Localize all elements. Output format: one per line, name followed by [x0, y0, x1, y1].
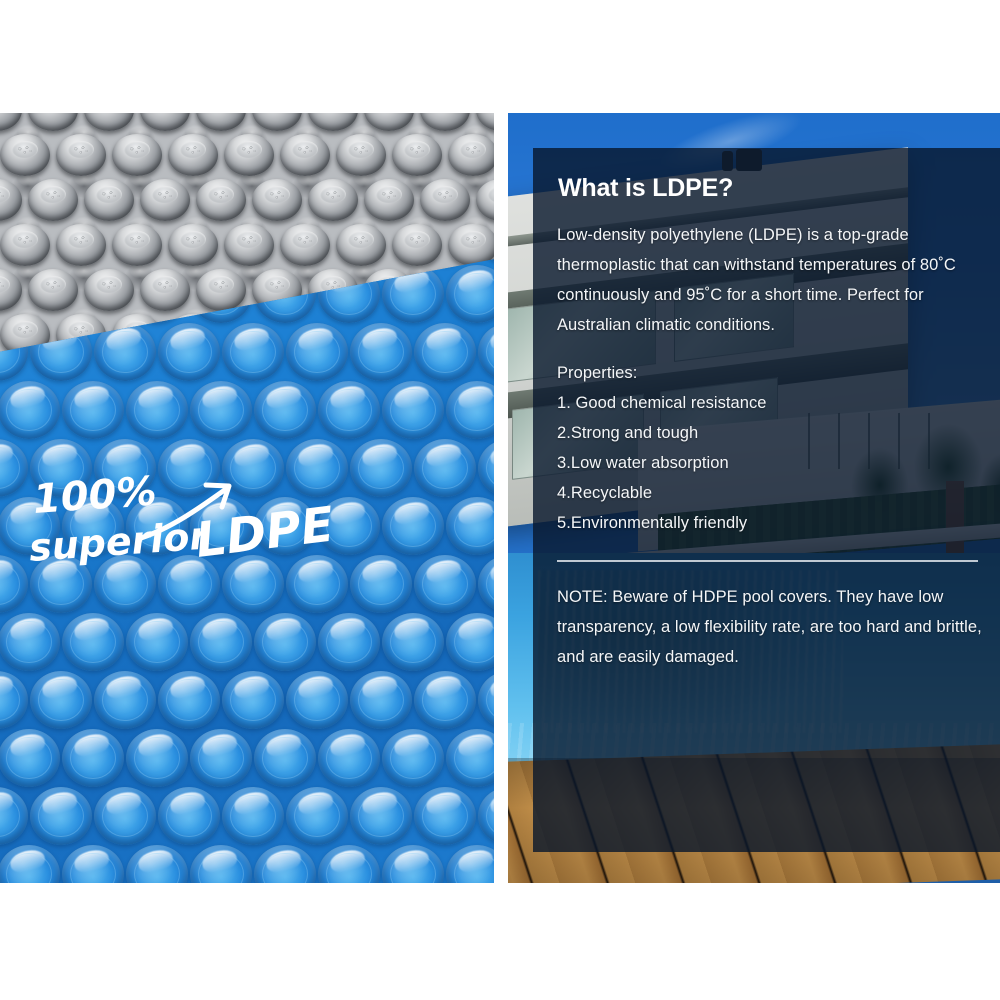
bubble-cell [448, 224, 494, 266]
bubble-cell [158, 323, 220, 381]
bubble-cell [382, 845, 444, 883]
bubble-cell [222, 439, 284, 497]
list-item: 4.Recyclable [557, 478, 982, 508]
bubble-cell [308, 179, 358, 221]
bubble-cell [350, 555, 412, 613]
product-info-graphic: 100% superior LDPE [0, 0, 1000, 1000]
bubble-cell [476, 179, 494, 221]
bubble-cell [0, 555, 28, 613]
bubble-cell [478, 439, 494, 497]
bubble-cell [252, 113, 302, 131]
bubble-cell [0, 439, 28, 497]
bubble-cell [318, 613, 380, 671]
bubble-cell [84, 113, 134, 131]
bubble-cell [0, 134, 50, 176]
bubble-cell [190, 845, 252, 883]
bubble-cell [414, 439, 476, 497]
bubble-cell [318, 845, 380, 883]
bubble-cell [478, 671, 494, 729]
bubble-cell [414, 787, 476, 845]
section-divider [557, 560, 978, 562]
bubble-cell [478, 787, 494, 845]
bubble-cell [448, 134, 494, 176]
bubble-cell [350, 323, 412, 381]
list-item: 2.Strong and tough [557, 418, 982, 448]
bubble-cell [0, 729, 60, 787]
bubble-cell [190, 381, 252, 439]
bubble-cell [476, 113, 494, 131]
bubble-cell [254, 613, 316, 671]
bubble-cell [286, 671, 348, 729]
bubble-cell [28, 269, 78, 311]
bubble-cell [286, 323, 348, 381]
info-card-heading: What is LDPE? [558, 174, 982, 203]
bubble-cell [392, 224, 442, 266]
bubble-cell [446, 381, 494, 439]
bubble-cell [336, 224, 386, 266]
bubble-cell [318, 729, 380, 787]
bubble-cell [56, 134, 106, 176]
bubble-cell [30, 787, 92, 845]
bubble-cell [350, 787, 412, 845]
bubble-cell [62, 381, 124, 439]
intro-paragraph: Low-density polyethylene (LDPE) is a top… [557, 220, 982, 340]
bubble-cell [254, 845, 316, 883]
bubble-cell [308, 113, 358, 131]
bubble-cell [382, 613, 444, 671]
bubble-cell [478, 555, 494, 613]
bubble-cell [94, 439, 156, 497]
bubble-cell [126, 729, 188, 787]
bubble-cell [446, 845, 494, 883]
list-item: 5.Environmentally friendly [557, 508, 982, 538]
bubble-cell [420, 179, 470, 221]
properties-label: Properties: [557, 358, 982, 388]
bubble-cell [196, 113, 246, 131]
bubble-cell [56, 224, 106, 266]
bubble-cell [414, 671, 476, 729]
bubble-cell [280, 134, 330, 176]
list-item: 1. Good chemical resistance [557, 388, 982, 418]
bubble-cell [112, 224, 162, 266]
bubble-cell [62, 845, 124, 883]
bubble-cell [0, 787, 28, 845]
bubble-cell [446, 265, 494, 323]
bubble-cell [222, 323, 284, 381]
bubble-cell [350, 671, 412, 729]
bubble-cell [382, 497, 444, 555]
bubble-cell [0, 497, 60, 555]
bubble-cell [0, 671, 28, 729]
bubble-cell [30, 555, 92, 613]
bubble-cell [28, 179, 78, 221]
bubble-cell [126, 613, 188, 671]
bubble-cell [0, 113, 22, 131]
pool-scene-photo-panel: What is LDPE? Low-density polyethylene (… [508, 113, 1000, 883]
bubble-cell [30, 671, 92, 729]
bubble-cell [446, 729, 494, 787]
bubble-cell [140, 269, 190, 311]
bubble-cell [364, 113, 414, 131]
bubble-cell [140, 113, 190, 131]
bubble-cell [222, 671, 284, 729]
bubble-cell [318, 497, 380, 555]
bubble-cell [0, 269, 22, 311]
bubble-cell [222, 555, 284, 613]
bubble-cell [0, 381, 60, 439]
bubble-cell [158, 439, 220, 497]
bubble-cell [126, 497, 188, 555]
bubble-cell [126, 381, 188, 439]
bubble-cell [224, 134, 274, 176]
bubble-cell [140, 179, 190, 221]
bubble-cell [364, 179, 414, 221]
bubble-cell [62, 729, 124, 787]
bubble-cell [254, 729, 316, 787]
bubble-cell [0, 613, 60, 671]
bubble-cell [414, 555, 476, 613]
bubble-cell [420, 113, 470, 131]
note-paragraph: NOTE: Beware of HDPE pool covers. They h… [557, 582, 982, 672]
bubble-cell [168, 134, 218, 176]
bubble-cell [280, 224, 330, 266]
bubble-cell [84, 179, 134, 221]
properties-list: 1. Good chemical resistance 2.Strong and… [557, 388, 982, 538]
bubble-cell [158, 671, 220, 729]
bubble-cell [94, 787, 156, 845]
bubble-cell [190, 613, 252, 671]
bubble-cell [84, 269, 134, 311]
bubble-cell [62, 497, 124, 555]
bubble-cell [112, 134, 162, 176]
bubble-cell [336, 134, 386, 176]
bubble-cell [94, 555, 156, 613]
bubble-cell [478, 323, 494, 381]
bubble-cell [196, 179, 246, 221]
bubble-cell [158, 787, 220, 845]
bubble-cell [168, 224, 218, 266]
info-card: What is LDPE? Low-density polyethylene (… [533, 148, 1000, 852]
bubble-cell [392, 134, 442, 176]
bubble-cell [0, 224, 50, 266]
bubble-cell [158, 555, 220, 613]
bubble-cell [190, 729, 252, 787]
bubble-cell [224, 224, 274, 266]
bubble-cell [252, 179, 302, 221]
bubble-cell [28, 113, 78, 131]
pool-cover-photo-panel: 100% superior LDPE [0, 113, 494, 883]
bubble-cell [0, 845, 60, 883]
bubble-cell [126, 845, 188, 883]
bubble-cell [350, 439, 412, 497]
bubble-cell [222, 787, 284, 845]
bubble-cell [254, 381, 316, 439]
bubble-cell [318, 381, 380, 439]
bubble-cell [94, 671, 156, 729]
bubble-cell [196, 269, 246, 311]
bubble-cell [382, 381, 444, 439]
bubble-cell [446, 613, 494, 671]
bubble-cell [446, 497, 494, 555]
bubble-cell [62, 613, 124, 671]
bubble-cell [190, 497, 252, 555]
bubble-cell [286, 787, 348, 845]
bubble-cell [30, 439, 92, 497]
bubble-cell [286, 439, 348, 497]
bubble-cell [414, 323, 476, 381]
bubble-cell [286, 555, 348, 613]
list-item: 3.Low water absorption [557, 448, 982, 478]
bubble-cell [254, 497, 316, 555]
bubble-cell [382, 729, 444, 787]
bubble-cell [0, 179, 22, 221]
